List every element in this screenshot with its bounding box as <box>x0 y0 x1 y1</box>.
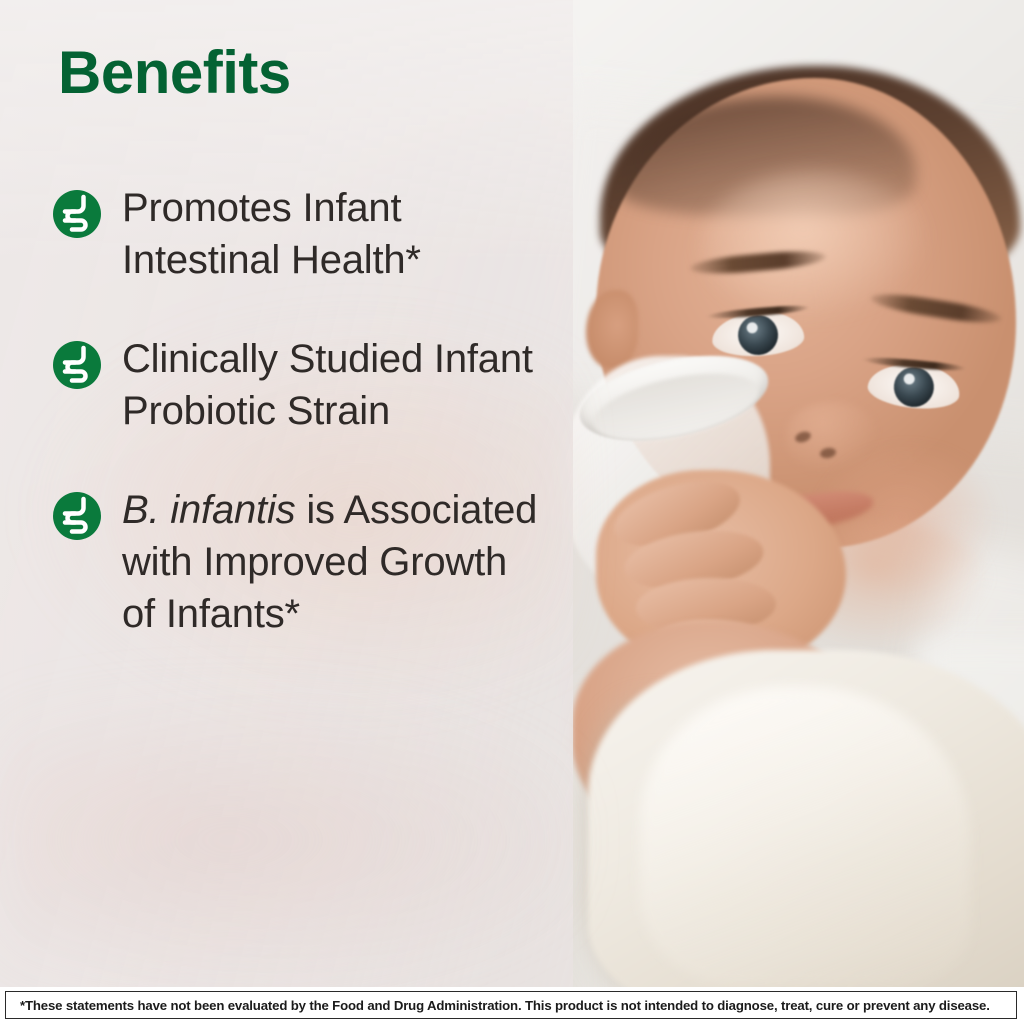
baby-iris <box>892 365 936 409</box>
intestine-icon <box>52 491 102 541</box>
list-item-label: Promotes Infant Intestinal Health* <box>122 182 542 286</box>
benefits-infographic: Benefits Promotes Infant Intestinal Heal… <box>0 0 1024 1024</box>
list-item: B. infantis is Associated with Improved … <box>52 484 552 640</box>
benefits-content: Benefits Promotes Infant Intestinal Heal… <box>0 0 573 987</box>
list-item: Promotes Infant Intestinal Health* <box>52 182 552 286</box>
disclaimer-text: *These statements have not been evaluate… <box>6 998 990 1013</box>
intestine-icon <box>52 189 102 239</box>
list-item: Clinically Studied Infant Probiotic Stra… <box>52 333 552 437</box>
clothing-fold <box>640 686 970 986</box>
list-item-label: Clinically Studied Infant Probiotic Stra… <box>122 333 542 437</box>
baby-iris <box>737 314 779 356</box>
footer-bar: *These statements have not been evaluate… <box>0 987 1024 1024</box>
species-name: B. infantis <box>122 488 295 532</box>
intestine-icon <box>52 340 102 390</box>
benefits-list: Promotes Infant Intestinal Health* Clini… <box>52 182 552 687</box>
list-item-label: B. infantis is Associated with Improved … <box>122 484 542 640</box>
baby-ear <box>586 290 638 368</box>
disclaimer-box: *These statements have not been evaluate… <box>5 991 1017 1019</box>
page-title: Benefits <box>58 43 291 103</box>
